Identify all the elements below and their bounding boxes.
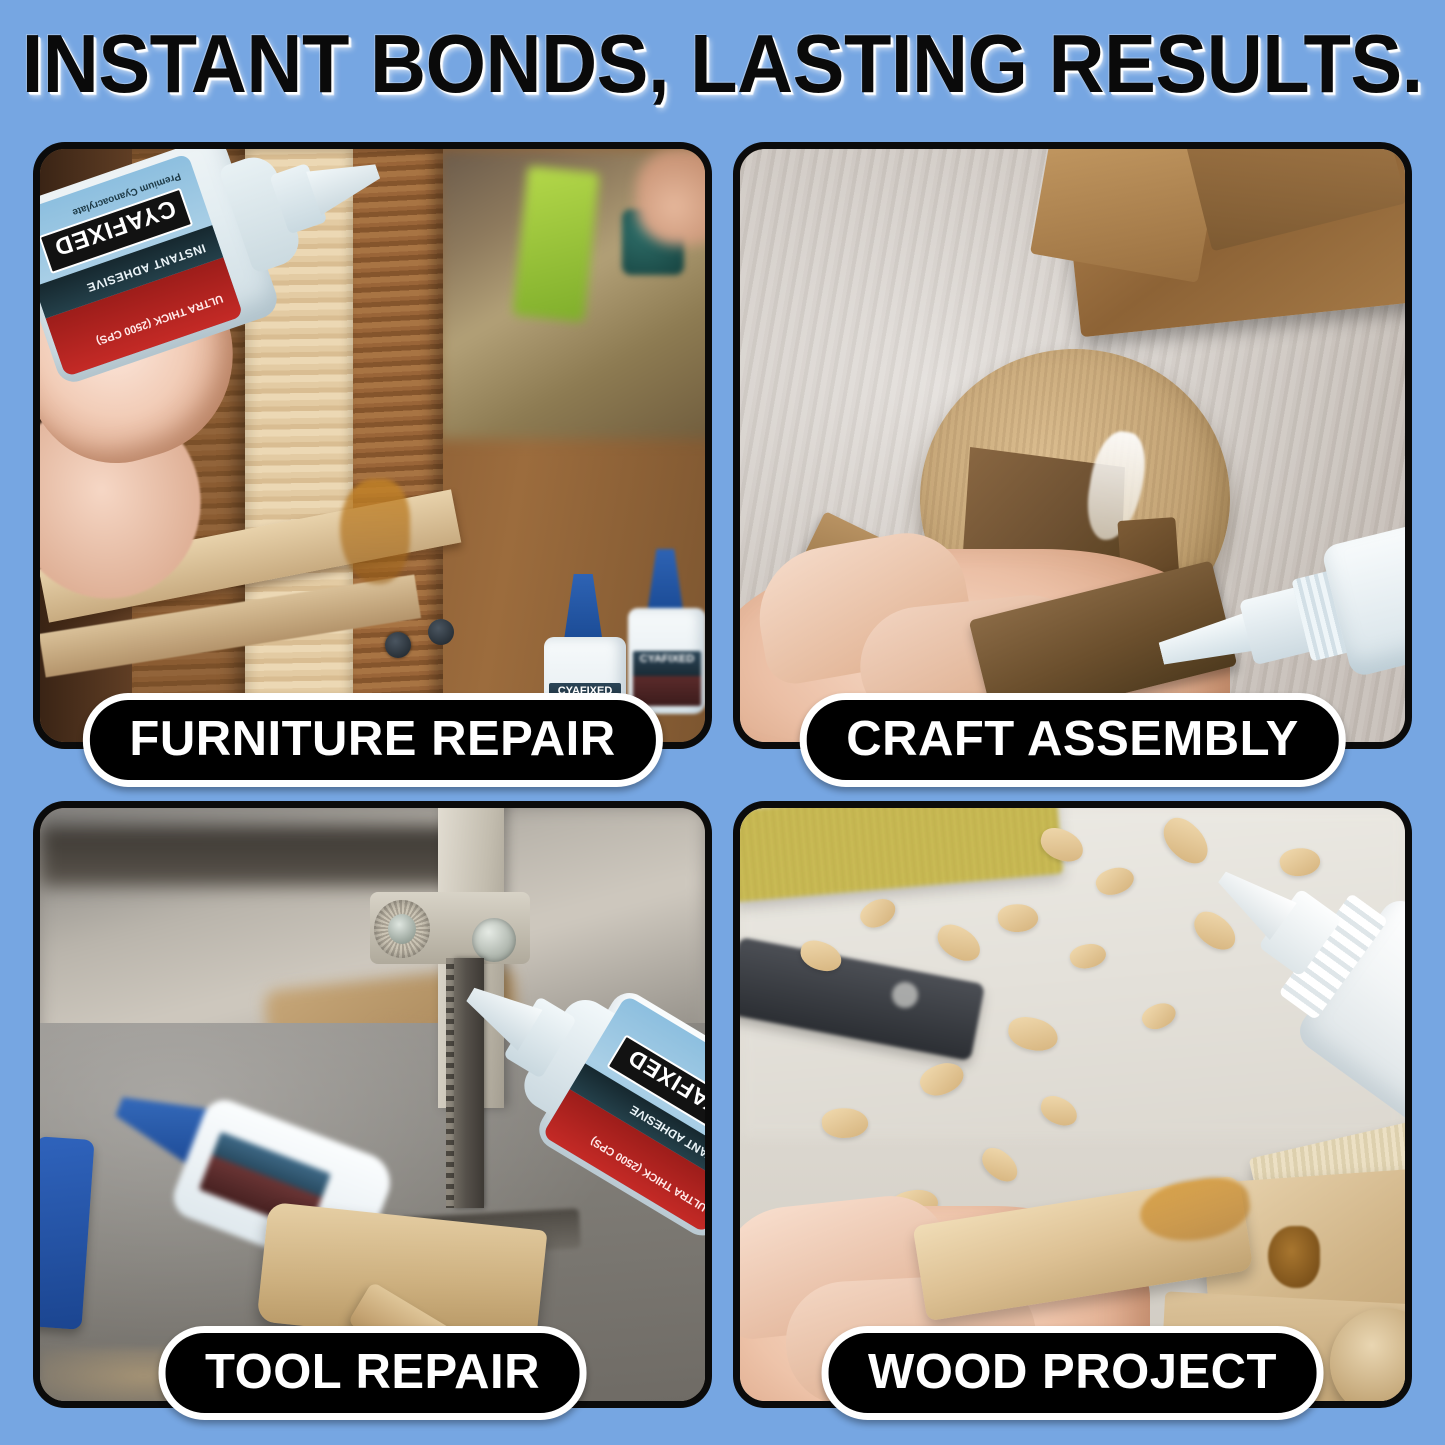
adjustment-knob[interactable]	[472, 918, 516, 962]
ruler-hole	[892, 982, 918, 1008]
label-ultra-thick: ULTRA THICK (2500 CPS)	[95, 292, 225, 347]
page-title: INSTANT BONDS, LASTING RESULTS.	[22, 21, 1423, 107]
feature-grid: ULTRA THICK (2500 CPS) INSTANT ADHESIVE …	[33, 142, 1412, 1408]
bottle-cap	[563, 574, 603, 644]
screw-head	[385, 632, 411, 658]
small-glue-bottle: CYAFIXED	[625, 549, 705, 714]
photo-furniture-repair: ULTRA THICK (2500 CPS) INSTANT ADHESIVE …	[40, 149, 705, 742]
glue-drip	[340, 479, 410, 584]
screw-head	[428, 619, 454, 645]
bottle-cap	[647, 549, 684, 615]
brand-name: CYAFIXED	[633, 653, 700, 665]
background-hand	[636, 149, 705, 245]
panel-label-furniture-repair: FURNITURE REPAIR	[82, 693, 662, 787]
panel-label-tool-repair: TOOL REPAIR	[158, 1326, 587, 1420]
headline-bar: INSTANT BONDS, LASTING RESULTS.	[0, 0, 1445, 128]
feature-cell-tool-repair: ULTRA THICK (2500 CPS) INSTANT ADHESIVE …	[33, 801, 712, 1408]
feature-cell-craft-assembly: CRAFT ASSEMBLY	[733, 142, 1412, 775]
photo-wood-project	[740, 808, 1405, 1401]
panel-label-craft-assembly: CRAFT ASSEMBLY	[799, 693, 1346, 787]
photo-panel-tool-repair[interactable]: ULTRA THICK (2500 CPS) INSTANT ADHESIVE …	[33, 801, 712, 1408]
knob-center	[388, 914, 416, 944]
photo-craft-assembly	[740, 149, 1405, 742]
photo-panel-wood-project[interactable]	[733, 801, 1412, 1408]
photo-tool-repair: ULTRA THICK (2500 CPS) INSTANT ADHESIVE …	[40, 808, 705, 1401]
feature-cell-wood-project: WOOD PROJECT	[733, 801, 1412, 1408]
photo-panel-craft-assembly[interactable]	[733, 142, 1412, 749]
bottle-label: CYAFIXED	[633, 651, 700, 705]
feature-cell-furniture-repair: ULTRA THICK (2500 CPS) INSTANT ADHESIVE …	[33, 142, 712, 775]
panel-label-wood-project: WOOD PROJECT	[821, 1326, 1324, 1420]
background-shadow	[40, 826, 460, 886]
photo-panel-furniture-repair[interactable]: ULTRA THICK (2500 CPS) INSTANT ADHESIVE …	[33, 142, 712, 749]
